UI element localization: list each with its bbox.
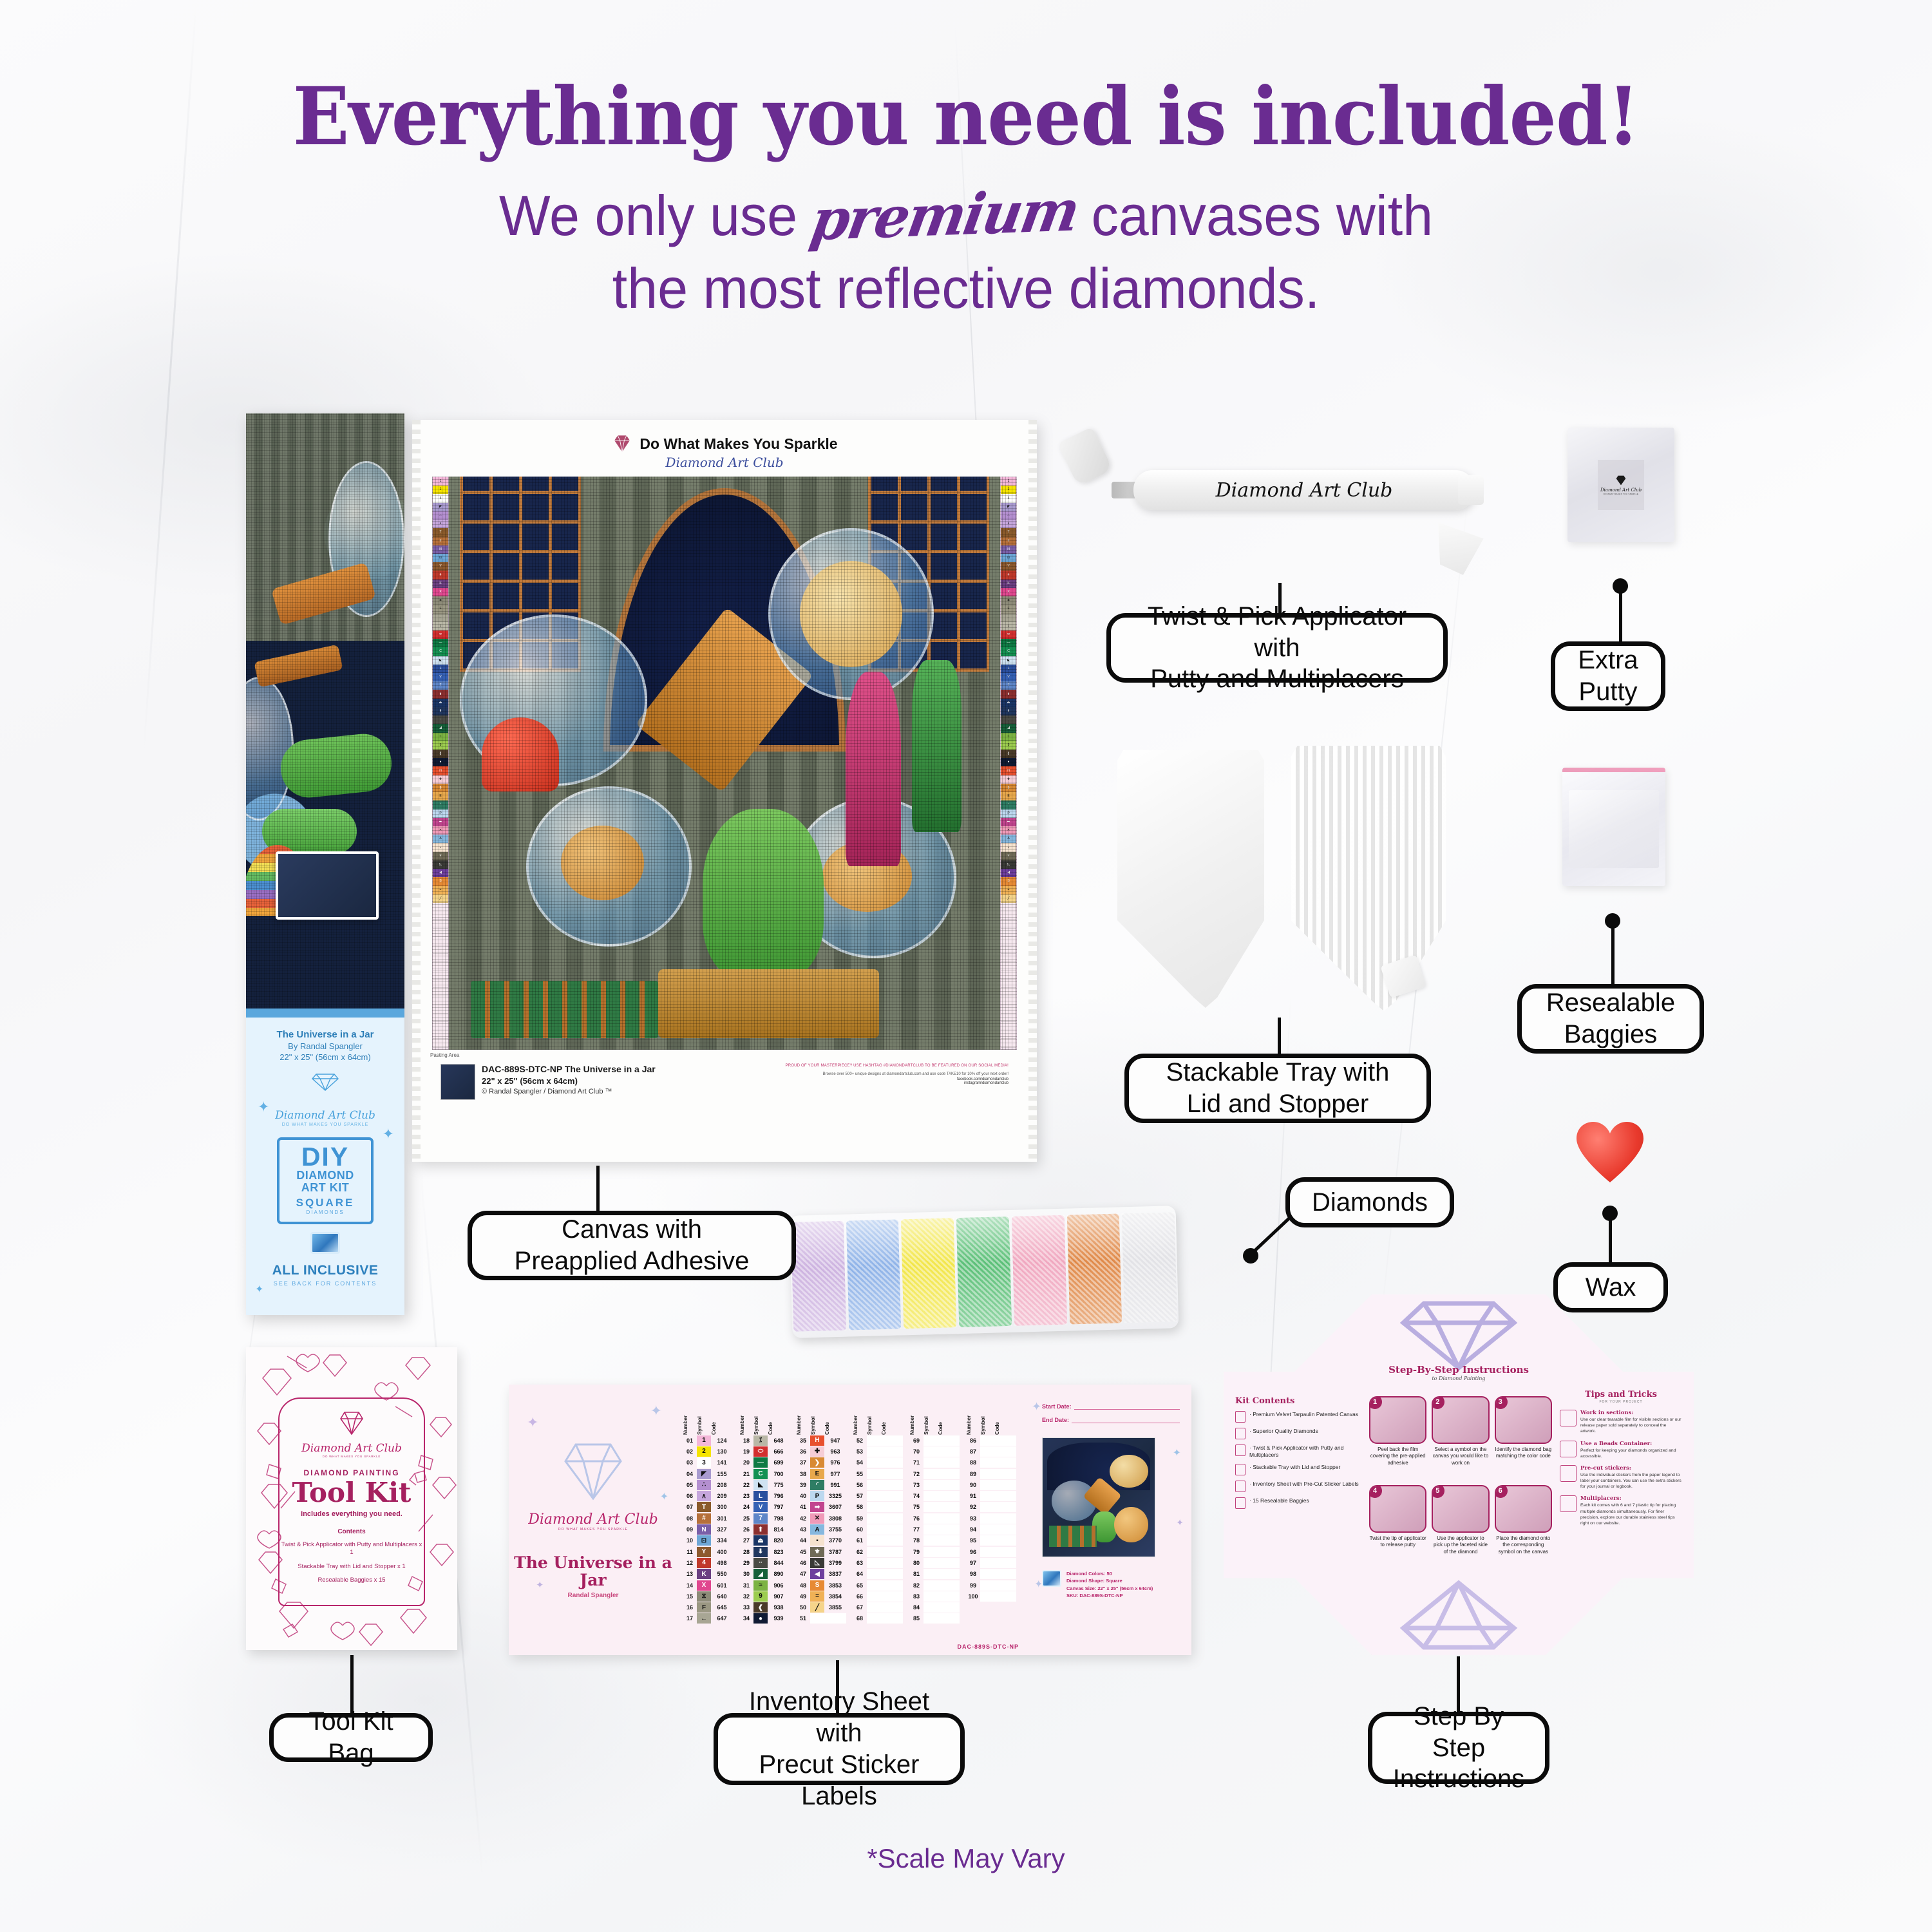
row-number: 07 xyxy=(683,1504,697,1510)
row-code: 947 xyxy=(824,1437,846,1444)
callout-extra-putty-label: Extra Putty xyxy=(1578,645,1638,708)
table-row: 85 xyxy=(909,1613,960,1624)
gem-chip-icon xyxy=(310,1232,340,1254)
row-symbol: 2 xyxy=(697,1446,711,1457)
canvas-social-block: PROUD OF YOUR MASTERPIECE? USE HASHTAG #… xyxy=(786,1064,1009,1085)
row-symbol xyxy=(867,1435,881,1446)
row-symbol xyxy=(867,1547,881,1557)
diamond-icon xyxy=(1381,1300,1536,1372)
row-symbol xyxy=(980,1513,994,1524)
canvas-product: Do What Makes You Sparkle Diamond Art Cl… xyxy=(412,420,1037,1162)
table-row: 73 xyxy=(909,1479,960,1490)
row-number: 13 xyxy=(683,1571,697,1577)
row-code: 938 xyxy=(768,1604,790,1611)
row-number: 62 xyxy=(853,1549,867,1555)
row-code xyxy=(881,1602,903,1613)
step-caption: Twist the tip of applicator to release p… xyxy=(1369,1535,1426,1549)
row-number: 76 xyxy=(909,1515,923,1522)
row-number: 98 xyxy=(966,1571,980,1577)
row-symbol xyxy=(867,1602,881,1613)
product-package-box: The Universe in a Jar By Randal Spangler… xyxy=(246,413,404,1315)
column-header: Symbol xyxy=(753,1399,768,1435)
row-number: 56 xyxy=(853,1482,867,1488)
diamond-bag xyxy=(956,1217,1012,1327)
row-symbol: 7 xyxy=(753,1513,768,1524)
callout-tool-kit-bag-label: Tool Kit Bag xyxy=(290,1706,412,1769)
row-number: 33 xyxy=(739,1604,753,1611)
inventory-column: NumberSymbolCode01112402213003314104◤155… xyxy=(683,1399,733,1649)
callout-resealable-baggies: Resealable Baggies xyxy=(1517,984,1704,1054)
table-row: 34●939 xyxy=(739,1613,790,1624)
row-number: 14 xyxy=(683,1582,697,1589)
row-symbol xyxy=(923,1491,938,1501)
table-row: 09N327 xyxy=(683,1524,733,1535)
diamond-icon xyxy=(336,1410,367,1436)
sparkle-icon: ✦ xyxy=(1176,1517,1184,1528)
table-row: 20—699 xyxy=(739,1457,790,1468)
sparkle-icon: ✦ xyxy=(1173,1446,1181,1459)
kit-content-item: · 15 Resealable Baggies xyxy=(1235,1497,1361,1509)
column-header: Number xyxy=(683,1399,697,1435)
row-symbol: 9 xyxy=(753,1591,768,1602)
table-row: 23L796 xyxy=(739,1490,790,1501)
row-symbol: ▪ xyxy=(810,1535,824,1546)
inventory-brand-sub: DO WHAT MAKES YOU SPARKLE xyxy=(558,1528,628,1531)
column-header: Code xyxy=(994,1399,1016,1435)
table-row: 70 xyxy=(909,1446,960,1457)
table-row: 329907 xyxy=(739,1591,790,1602)
row-number: 58 xyxy=(853,1504,867,1510)
row-number: 22 xyxy=(739,1482,753,1488)
row-number: 48 xyxy=(796,1582,810,1589)
callout-stackable-tray-label: Stackable Tray with Lid and Stopper xyxy=(1166,1057,1390,1120)
row-code xyxy=(881,1524,903,1535)
row-symbol xyxy=(867,1446,881,1457)
kit-content-label: · Superior Quality Diamonds xyxy=(1249,1428,1318,1435)
row-code: 814 xyxy=(768,1526,790,1533)
row-symbol xyxy=(867,1591,881,1602)
row-code: 334 xyxy=(711,1537,733,1544)
diamond-bag xyxy=(846,1219,902,1330)
tip-heading: Use a Beads Container: xyxy=(1580,1441,1682,1447)
row-code: 3854 xyxy=(824,1593,846,1600)
row-number: 06 xyxy=(683,1493,697,1499)
row-number: 25 xyxy=(739,1515,753,1522)
row-number: 69 xyxy=(909,1437,923,1444)
row-number: 88 xyxy=(966,1459,980,1466)
subtitle-line2: the most reflective diamonds. xyxy=(612,256,1320,320)
row-code xyxy=(994,1469,1016,1479)
row-code xyxy=(938,1558,960,1568)
row-code: 645 xyxy=(711,1604,733,1611)
diamond-shape-label: SQUARE xyxy=(279,1197,371,1209)
table-row: 61 xyxy=(853,1535,903,1546)
column-header: Number xyxy=(966,1399,980,1435)
row-number: 39 xyxy=(796,1482,810,1488)
row-number: 78 xyxy=(909,1537,923,1544)
row-symbol xyxy=(980,1535,994,1546)
tip-icon xyxy=(1560,1441,1577,1457)
row-code: 640 xyxy=(711,1593,733,1600)
page-subtitle: We only use premium canvases with the mo… xyxy=(39,179,1893,325)
leader-dot-resealable xyxy=(1605,913,1620,929)
subtitle-part2: canvases with xyxy=(1092,184,1434,247)
table-row: 24V797 xyxy=(739,1502,790,1513)
column-header: Number xyxy=(796,1399,810,1435)
step-photo: 2 xyxy=(1432,1396,1489,1444)
table-row: 96 xyxy=(966,1546,1016,1557)
row-code xyxy=(938,1569,960,1579)
row-number: 93 xyxy=(966,1515,980,1522)
row-symbol xyxy=(923,1569,938,1579)
row-symbol xyxy=(923,1480,938,1490)
row-symbol: X xyxy=(697,1580,711,1591)
row-number: 57 xyxy=(853,1493,867,1499)
callout-extra-putty: Extra Putty xyxy=(1551,641,1665,711)
row-symbol: F xyxy=(697,1602,711,1613)
end-date-label: End Date: xyxy=(1042,1417,1069,1423)
canvas-browse-text: Browse over 500+ unique designs at diamo… xyxy=(786,1072,1009,1077)
row-code: 797 xyxy=(768,1504,790,1510)
row-code: 209 xyxy=(711,1493,733,1499)
inventory-left-panel: Diamond Art Club DO WHAT MAKES YOU SPARK… xyxy=(509,1385,677,1655)
step-number: 1 xyxy=(1369,1396,1382,1409)
row-code xyxy=(994,1435,1016,1446)
row-number: 40 xyxy=(796,1493,810,1499)
row-code xyxy=(881,1446,903,1457)
inventory-color-table: NumberSymbolCode01112402213003314104◤155… xyxy=(677,1385,1030,1655)
kit-content-icon xyxy=(1235,1411,1245,1423)
table-row: 14X601 xyxy=(683,1580,733,1591)
table-row: 35H947 xyxy=(796,1435,846,1446)
row-number: 32 xyxy=(739,1593,753,1600)
inventory-sheet-product: Diamond Art Club DO WHAT MAKES YOU SPARK… xyxy=(509,1385,1191,1655)
column-header: Code xyxy=(881,1399,903,1435)
package-thumbnail xyxy=(276,851,379,920)
tool-kit-content-item: Stackable Tray with Lid and Stopper x 1 xyxy=(279,1563,424,1571)
row-number: 74 xyxy=(909,1493,923,1499)
row-number: 12 xyxy=(683,1560,697,1566)
row-number: 66 xyxy=(853,1593,867,1600)
row-symbol: 3 xyxy=(697,1457,711,1468)
row-symbol: H xyxy=(810,1435,824,1446)
row-symbol: ← xyxy=(697,1613,711,1624)
step-photo: 6 xyxy=(1495,1485,1552,1533)
putty-bag-tagline: DO WHAT MAKES YOU SPARKLE xyxy=(1604,493,1638,495)
table-row: 90 xyxy=(966,1479,1016,1490)
row-number: 21 xyxy=(739,1471,753,1477)
row-number: 100 xyxy=(966,1593,980,1600)
table-row: 88 xyxy=(966,1457,1016,1468)
row-symbol xyxy=(980,1491,994,1501)
table-row: 10⊡334 xyxy=(683,1535,733,1546)
diamond-bag xyxy=(1066,1213,1122,1324)
row-number: 10 xyxy=(683,1537,697,1544)
diamond-bag xyxy=(1122,1212,1177,1323)
row-number: 60 xyxy=(853,1526,867,1533)
row-symbol: N xyxy=(697,1524,711,1535)
row-number: 68 xyxy=(853,1615,867,1622)
step-photo: 4 xyxy=(1369,1485,1426,1533)
row-code: 991 xyxy=(824,1482,846,1488)
row-code: 648 xyxy=(768,1437,790,1444)
row-code xyxy=(881,1491,903,1501)
callout-step-by-step: Step By Step Instructions xyxy=(1368,1712,1549,1784)
table-row: 64 xyxy=(853,1569,903,1580)
kit-content-label: · 15 Resealable Baggies xyxy=(1249,1497,1309,1504)
table-row: 15⧖640 xyxy=(683,1591,733,1602)
spec-diamond-shape: Diamond Shape: Square xyxy=(1066,1577,1153,1584)
row-number: 01 xyxy=(683,1437,697,1444)
row-code xyxy=(881,1513,903,1524)
start-date-field[interactable]: Start Date: xyxy=(1042,1403,1180,1410)
row-number: 19 xyxy=(739,1448,753,1455)
inventory-column: NumberSymbolCode18⁒64819⬭66620—69921C700… xyxy=(739,1399,790,1649)
row-code xyxy=(994,1513,1016,1524)
row-symbol xyxy=(867,1535,881,1546)
row-code xyxy=(881,1547,903,1557)
row-code xyxy=(994,1457,1016,1468)
row-number: 23 xyxy=(739,1493,753,1499)
diamond-bag xyxy=(901,1218,956,1329)
kit-content-label: · Premium Velvet Tarpaulin Patented Canv… xyxy=(1249,1411,1358,1418)
table-row: 95 xyxy=(966,1535,1016,1546)
sparkle-icon: ✦ xyxy=(536,1579,544,1591)
row-code xyxy=(938,1469,960,1479)
row-code: 3855 xyxy=(824,1604,846,1611)
row-symbol xyxy=(867,1502,881,1512)
callout-diamonds: Diamonds xyxy=(1285,1177,1454,1227)
row-code: 141 xyxy=(711,1459,733,1466)
row-symbol xyxy=(867,1469,881,1479)
kit-content-item: · Premium Velvet Tarpaulin Patented Canv… xyxy=(1235,1411,1361,1423)
callout-canvas-label: Canvas with Preapplied Adhesive xyxy=(515,1214,750,1277)
row-code: 699 xyxy=(768,1459,790,1466)
row-code xyxy=(994,1547,1016,1557)
row-number: 83 xyxy=(909,1593,923,1600)
row-code xyxy=(881,1613,903,1624)
table-row: 36✚963 xyxy=(796,1446,846,1457)
row-symbol xyxy=(923,1535,938,1546)
row-symbol xyxy=(923,1602,938,1613)
row-symbol xyxy=(980,1469,994,1479)
inventory-column: NumberSymbolCode868788899091929394959697… xyxy=(966,1399,1016,1649)
row-code xyxy=(881,1435,903,1446)
table-row: 82 xyxy=(909,1580,960,1591)
tip-body: Use the individual stickers from the pap… xyxy=(1580,1472,1682,1490)
table-row: 27⏏820 xyxy=(739,1535,790,1546)
row-code xyxy=(938,1446,960,1457)
row-number: 31 xyxy=(739,1582,753,1589)
column-header: Code xyxy=(938,1399,960,1435)
table-row: 74 xyxy=(909,1490,960,1501)
row-symbol xyxy=(923,1457,938,1468)
row-symbol xyxy=(867,1491,881,1501)
row-number: 20 xyxy=(739,1459,753,1466)
sparkle-icon: ✦ xyxy=(258,1099,269,1115)
row-number: 17 xyxy=(683,1615,697,1622)
table-row: 19⬭666 xyxy=(739,1446,790,1457)
row-code: 700 xyxy=(768,1471,790,1477)
page-title: Everything you need is included! xyxy=(68,77,1864,157)
row-code xyxy=(881,1591,903,1602)
table-row: 94 xyxy=(966,1524,1016,1535)
sparkle-icon: ✦ xyxy=(650,1403,662,1419)
table-row: 28⬇823 xyxy=(739,1546,790,1557)
row-symbol: = xyxy=(810,1591,824,1602)
table-row: 38E977 xyxy=(796,1468,846,1479)
kit-content-label: · Stackable Tray with Lid and Stopper xyxy=(1249,1464,1340,1471)
row-code: 3787 xyxy=(824,1549,846,1555)
kit-content-label: · Inventory Sheet with Pre-Cut Sticker L… xyxy=(1249,1481,1359,1488)
table-row: 011124 xyxy=(683,1435,733,1446)
row-code: 327 xyxy=(711,1526,733,1533)
package-brand: Diamond Art Club xyxy=(246,1109,404,1122)
scale-footnote: *Scale May Vary xyxy=(0,1843,1932,1874)
row-symbol: 1 xyxy=(697,1435,711,1446)
row-code xyxy=(994,1524,1016,1535)
row-symbol xyxy=(980,1457,994,1468)
pasting-area-label: Pasting Area xyxy=(430,1052,459,1058)
row-symbol: 4 xyxy=(697,1558,711,1568)
row-number: 97 xyxy=(966,1560,980,1566)
row-symbol: ⬆ xyxy=(753,1524,768,1535)
row-symbol xyxy=(980,1569,994,1579)
subtitle-part1: We only use xyxy=(499,184,797,247)
table-row: 40P3325 xyxy=(796,1490,846,1501)
sparkle-icon: ✦ xyxy=(1032,1400,1041,1414)
row-code: 890 xyxy=(768,1571,790,1577)
row-code xyxy=(938,1480,960,1490)
row-number: 80 xyxy=(909,1560,923,1566)
tips-subheader: FOR YOUR PROJECT xyxy=(1560,1400,1682,1404)
callout-applicator: Twist & Pick Applicator with Putty and M… xyxy=(1106,613,1448,683)
table-row: 46◺3799 xyxy=(796,1557,846,1568)
sparkle-icon: ✦ xyxy=(527,1414,538,1431)
sparkle-icon: ✦ xyxy=(1034,1578,1043,1591)
canvas-footer: Pasting Area DAC-889S-DTC-NP The Univers… xyxy=(421,1050,1028,1100)
row-number: 09 xyxy=(683,1526,697,1533)
diy-badge: DIY DIAMOND ART KIT SQUARE DIAMONDS xyxy=(277,1137,374,1224)
canvas-hashtag: PROUD OF YOUR MASTERPIECE? USE HASHTAG #… xyxy=(786,1064,1009,1068)
inventory-column: NumberSymbolCode697071727374757677787980… xyxy=(909,1399,960,1649)
row-code xyxy=(938,1580,960,1591)
canvas-instagram: instagram/diamondartclub xyxy=(786,1081,1009,1085)
table-row: 44▪3770 xyxy=(796,1535,846,1546)
row-symbol: ∧ xyxy=(697,1491,711,1501)
tool-kit-subtitle: Includes everything you need. xyxy=(279,1510,424,1518)
diy-line2: DIAMOND xyxy=(279,1170,371,1182)
row-symbol xyxy=(980,1480,994,1490)
row-symbol xyxy=(980,1446,994,1457)
kit-content-label: · Twist & Pick Applicator with Putty and… xyxy=(1249,1444,1361,1459)
row-code: 3607 xyxy=(824,1504,846,1510)
row-number: 05 xyxy=(683,1482,697,1488)
table-row: 05∴208 xyxy=(683,1479,733,1490)
kit-contents-header: Kit Contents xyxy=(1235,1396,1361,1406)
canvas-brand: Diamond Art Club xyxy=(421,455,1028,470)
row-number: 35 xyxy=(796,1437,810,1444)
inventory-artist: Randal Spangler xyxy=(568,1592,619,1599)
row-number: 44 xyxy=(796,1537,810,1544)
row-code: 3799 xyxy=(824,1560,846,1566)
row-code xyxy=(938,1602,960,1613)
table-row: 42✕3808 xyxy=(796,1513,846,1524)
instruction-step: 4Twist the tip of applicator to release … xyxy=(1369,1485,1426,1570)
row-number: 84 xyxy=(909,1604,923,1611)
kit-content-item: · Superior Quality Diamonds xyxy=(1235,1428,1361,1439)
row-code xyxy=(938,1491,960,1501)
tip-icon xyxy=(1560,1410,1577,1426)
tip-heading: Work in sections: xyxy=(1580,1410,1682,1416)
table-row: 97 xyxy=(966,1557,1016,1568)
gem-chip-icon xyxy=(1042,1570,1061,1587)
column-header: Symbol xyxy=(980,1399,994,1435)
row-code xyxy=(938,1613,960,1624)
table-row: 54 xyxy=(853,1457,903,1468)
row-number: 67 xyxy=(853,1604,867,1611)
row-number: 52 xyxy=(853,1437,867,1444)
table-row: 79 xyxy=(909,1546,960,1557)
row-code: 844 xyxy=(768,1560,790,1566)
step-photo: 3 xyxy=(1495,1396,1552,1444)
tip-item: Work in sections:Use our clear tearable … xyxy=(1560,1410,1682,1435)
row-symbol: A xyxy=(810,1524,824,1535)
row-symbol: ◜ xyxy=(810,1480,824,1490)
all-inclusive-sub: SEE BACK FOR CONTENTS xyxy=(246,1280,404,1287)
row-symbol: T xyxy=(697,1502,711,1512)
row-code: 907 xyxy=(768,1593,790,1600)
step-number: 5 xyxy=(1432,1485,1444,1498)
row-symbol: ✚ xyxy=(810,1446,824,1457)
diamond-bag xyxy=(791,1221,846,1332)
diy-label: DIY xyxy=(279,1145,371,1170)
callout-applicator-label: Twist & Pick Applicator with Putty and M… xyxy=(1128,601,1426,695)
diamond-pixel-overlay xyxy=(432,477,1017,1050)
all-inclusive-label: ALL INCLUSIVE xyxy=(246,1263,404,1278)
table-row: 16F645 xyxy=(683,1602,733,1613)
step-caption: Identify the diamond bag matching the co… xyxy=(1495,1446,1552,1460)
row-symbol xyxy=(923,1613,938,1624)
end-date-field[interactable]: End Date: xyxy=(1042,1416,1180,1423)
row-number: 91 xyxy=(966,1493,980,1499)
step-number: 4 xyxy=(1369,1485,1382,1498)
tip-body: Use our clear tearable film for visible … xyxy=(1580,1417,1682,1435)
tip-item: Multiplacers:Each kit comes with 6 and 7… xyxy=(1560,1495,1682,1526)
diamonds-pack xyxy=(790,1206,1179,1338)
row-code xyxy=(938,1535,960,1546)
row-code xyxy=(994,1480,1016,1490)
row-symbol xyxy=(867,1558,881,1568)
row-number: 71 xyxy=(909,1459,923,1466)
row-number: 41 xyxy=(796,1504,810,1510)
table-row: 45⚜3787 xyxy=(796,1546,846,1557)
callout-inventory-sheet-label: Inventory Sheet with Precut Sticker Labe… xyxy=(735,1686,943,1812)
row-symbol: V xyxy=(753,1502,768,1512)
instruction-step: 5Use the applicator to pick up the facet… xyxy=(1432,1485,1489,1570)
row-code: 963 xyxy=(824,1448,846,1455)
column-header: Symbol xyxy=(923,1399,938,1435)
row-code xyxy=(938,1513,960,1524)
table-row: 66 xyxy=(853,1591,903,1602)
wax-heart xyxy=(1577,1122,1643,1184)
canvas-copyright: © Randal Spangler / Diamond Art Club ™ xyxy=(482,1088,656,1095)
inventory-spec-list: Diamond Colors: 50 Diamond Shape: Square… xyxy=(1066,1570,1153,1600)
row-code: 977 xyxy=(824,1471,846,1477)
spec-canvas-size: Canvas Size: 22" x 25" (56cm x 64cm) xyxy=(1066,1585,1153,1592)
row-code: 666 xyxy=(768,1448,790,1455)
table-row: 89 xyxy=(966,1468,1016,1479)
